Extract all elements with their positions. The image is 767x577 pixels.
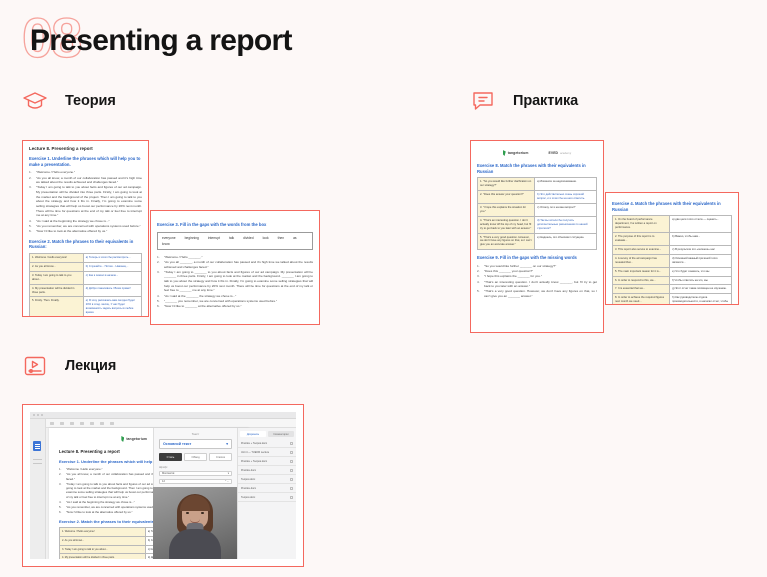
webcam-participant-tile[interactable]	[153, 487, 237, 559]
thumbnail-practice-exercise4-doc[interactable]: Exercise 4. Match the phrases with their…	[605, 192, 739, 305]
table-cell-right: b) Слушайте... Потом... Наконец...	[83, 262, 141, 271]
doc-logo-row: tangetorium EVED academy	[477, 150, 597, 156]
list-item[interactable]: Теория.docx	[238, 493, 296, 502]
table-row: 1. On the board of performance departmen…	[613, 216, 732, 233]
table-row: 4. "That's an interesting question. I do…	[478, 216, 597, 233]
avatar-eye-right	[201, 512, 204, 514]
speech-bubble-icon	[470, 88, 496, 114]
avatar-eye-left	[186, 512, 189, 514]
panel-title: Текст	[159, 432, 232, 436]
list-item: "Welcome / Hello _______."	[157, 255, 313, 260]
doc-content: Exercise 3. Fill in the gaps with the wo…	[151, 211, 319, 324]
doc-exercise9-list: "So you would like further _______ on ou…	[477, 264, 597, 299]
doc-content: Lecture 8. Presenting a report Exercise …	[23, 141, 148, 316]
table-row: 5. "That's a very good question. However…	[478, 233, 597, 250]
file-name: Practice + Теория.docx	[241, 442, 267, 445]
file-name: Теория.docx	[241, 478, 255, 481]
toolbar-icon[interactable]	[50, 422, 54, 425]
table-cell-right: d) Так вы хотели бы получить дополнитель…	[535, 216, 597, 233]
file-list-panel: Документы Комментарии Practice + Теория.…	[237, 428, 296, 559]
toolbar-icon[interactable]	[80, 422, 84, 425]
rail-divider	[33, 459, 42, 460]
file-badge-icon	[290, 442, 293, 445]
tangetorium-logo: tangetorium	[121, 436, 147, 442]
avatar-body	[169, 529, 221, 559]
table-cell-left: 7. It is essential that we...	[613, 285, 670, 294]
list-item: "As you all know, a month of our collabo…	[29, 176, 142, 185]
file-badge-icon	[290, 496, 293, 499]
window-minimize-icon[interactable]	[37, 414, 39, 416]
tab-documents[interactable]: Документы	[240, 431, 266, 437]
rail-divider	[33, 463, 42, 464]
font-label: Шрифт	[159, 466, 232, 469]
file-badge-icon	[290, 451, 293, 454]
list-item: "Now I'd like to _______ at the alternat…	[157, 304, 313, 309]
table-cell-left: 4. My presentation will be divided in th…	[60, 554, 146, 559]
table-row: 6. In order to respond to this, we... f)…	[613, 276, 732, 285]
table-cell-left: 1. Welcome / Hello everyone!	[30, 253, 84, 262]
page-title: Presenting a report	[30, 26, 292, 56]
table-cell-left: 5. "That's a very good question. However…	[478, 233, 535, 250]
stepper-icon[interactable]: ⌃⌄	[225, 480, 229, 483]
table-cell-left: 1. On the board of performance departmen…	[613, 216, 670, 233]
file-badge-icon	[290, 478, 293, 481]
toolbar-icon[interactable]	[110, 422, 114, 425]
list-item[interactable]: Practice.docx	[238, 484, 296, 493]
table-cell-left: 2. As you all know...	[30, 262, 84, 271]
logo-mark-icon	[503, 150, 506, 156]
font-family-select[interactable]: Montserrat ▾	[159, 471, 232, 476]
word-box: everyone beginning interrupt talk divide…	[157, 232, 313, 250]
file-name: Теория.docx	[241, 496, 255, 499]
table-cell-left: 4. "That's an interesting question. I do…	[478, 216, 535, 233]
word-chip: look	[263, 236, 269, 240]
list-item: "As I said at the _______ the strategy w…	[157, 294, 313, 299]
tab-comments[interactable]: Комментарии	[268, 431, 294, 437]
doc-exercise4-heading: Exercise 4. Match the phrases with their…	[612, 201, 732, 212]
table-row: 3. "I hope this explains the situation f…	[478, 203, 597, 216]
word-chip: beginning	[185, 236, 199, 240]
list-item: "Now I'd like to look at the alternative…	[29, 229, 142, 234]
word-chip: everyone	[162, 236, 176, 240]
logo-text: tangetorium	[126, 437, 147, 441]
doc-exercise8-table: 1. "So you would like further clarificat…	[477, 177, 597, 250]
word-chip: interrupt	[208, 236, 220, 240]
table-cell-right: a) Теперь я хотел бы рассмотреть...	[83, 253, 141, 262]
window-close-icon[interactable]	[33, 414, 35, 416]
table-cell-right: h) Как руководителю отдела производитель…	[670, 294, 732, 304]
table-row: 8. In order to achieve the required figu…	[613, 294, 732, 304]
toolbar-icon[interactable]	[100, 422, 104, 425]
word-chip: know	[162, 242, 170, 246]
doc-exercise3-list: "Welcome / Hello _______." "As you all _…	[157, 255, 313, 309]
table-cell-left: 2. The purpose of this report is to eval…	[613, 233, 670, 246]
table-row: 1. Welcome / Hello everyone! a) Теперь я…	[30, 253, 142, 262]
table-row: 3. This report also serves to examine...…	[613, 245, 732, 254]
video-play-icon	[22, 353, 48, 379]
doc-heading: Lecture 8. Presenting a report	[29, 146, 142, 151]
file-name: Practice + Теория.docx	[241, 460, 267, 463]
table-cell-left: 8. In order to achieve the required figu…	[613, 294, 670, 304]
table-cell-left: 2. "Does this answer your question?"	[478, 191, 535, 204]
table-cell-left: 3. "I hope this explains the situation f…	[478, 203, 535, 216]
doc-exercise1-heading: Exercise 1. Underline the phrases which …	[29, 156, 142, 167]
table-cell-left: 1. "So you would like further clarificat…	[478, 178, 535, 191]
file-name: Practice.docx	[241, 469, 256, 472]
word-chip: talk	[229, 236, 234, 240]
app-left-rail	[30, 419, 46, 559]
table-cell-left: 2. As you all know...	[60, 536, 146, 545]
doc-exercise9-heading: Exercise 9. Fill in the gaps with the mi…	[477, 255, 597, 261]
table-row: 7. It is essential that we... g) Этот от…	[613, 285, 732, 294]
table-row: 1. "So you would like further clarificat…	[478, 178, 597, 191]
table-cell-left: 3. Today I am going to talk to you about…	[60, 545, 146, 554]
font-size-value: 12	[162, 480, 165, 483]
section-label-theory: Теория	[65, 93, 116, 109]
table-cell-right: d) Добро пожаловать / Всем привет!	[83, 284, 141, 297]
table-cell-left: 1. Welcome / Hello everyone!	[60, 528, 146, 537]
segment-border[interactable]: Обвод	[184, 453, 207, 461]
list-item: "As I said at the beginning the strategy…	[29, 219, 142, 224]
list-item: "That's a very good question. However, w…	[477, 289, 597, 298]
list-item: "_______ you remember, we are concerned …	[157, 299, 313, 304]
table-cell-right: a) Извините за недопонимание.	[535, 178, 597, 191]
table-cell-right: a) две цели этого отчета — оценить...	[670, 216, 732, 233]
table-cell-left: 5. The main important reason for it is..…	[613, 267, 670, 276]
chevron-down-icon: ▾	[228, 472, 229, 475]
segment-list[interactable]: Список	[209, 453, 232, 461]
file-list-tabs[interactable]: Документы Комментарии	[238, 430, 296, 439]
list-item: "Welcome / Hello everyone."	[29, 170, 142, 175]
doc-exercise2-table: 1. Welcome / Hello everyone! a) Теперь я…	[29, 253, 142, 316]
list-item: "I hope this explains the _______ for yo…	[477, 274, 597, 279]
toolbar-icon[interactable]	[60, 422, 64, 425]
eved-logo: EVED academy	[548, 151, 571, 155]
table-cell-right: c) В результате это «зеленое» нас	[670, 245, 732, 254]
thumbnail-lecture-video[interactable]: tangetorium EVED Lecture 8. Presenting a…	[22, 404, 304, 567]
list-item: "As you remember, we are concerned with …	[29, 224, 142, 229]
list-item[interactable]: Practice + Теория.docx	[238, 457, 296, 466]
document-file-icon[interactable]	[33, 441, 41, 451]
table-row: 5. Firstly. Then. Finally. e) Я хочу рас…	[30, 297, 142, 316]
list-item[interactable]: Practice.docx	[238, 466, 296, 475]
table-cell-right: g) Этот отчет также посвящен ее изучению…	[670, 285, 732, 294]
file-badge-icon	[290, 469, 293, 472]
list-item: "So you would like further _______ on ou…	[477, 264, 597, 269]
table-cell-right: e) Я хочу рассказать вам сегодня будет 2…	[83, 297, 141, 316]
table-cell-left: 6. In order to respond to this, we...	[613, 276, 670, 285]
table-row: 4. A survey of the ad campaign has revea…	[613, 254, 732, 267]
file-name: Practice.docx	[241, 487, 256, 490]
logo-mark-icon	[121, 436, 124, 442]
table-cell-right: b) Это действительно очень хороший вопро…	[535, 191, 597, 204]
paragraph-style-select[interactable]: Основной текст ▾	[159, 439, 232, 449]
paragraph-style-value: Основной текст	[163, 442, 191, 446]
table-cell-left: 4. My presentation will be divided in th…	[30, 284, 84, 297]
font-family-value: Montserrat	[162, 472, 174, 475]
table-cell-right: c) Как я сказал в начале...	[83, 271, 141, 284]
table-row: 5. The main important reason for it is..…	[613, 267, 732, 276]
table-row: 3. Today I am going to talk to you about…	[30, 271, 142, 284]
editor-toolbar[interactable]	[46, 419, 296, 428]
table-cell-right: f) Чтобы ответить на это, мы	[670, 276, 732, 285]
table-cell-left: 5. Firstly. Then. Finally.	[30, 297, 84, 316]
logo-text: tangetorium	[508, 151, 529, 155]
table-cell-right: b) Важно, чтобы нам...	[670, 233, 732, 246]
doc-exercise2-heading: Exercise 2. Match the phrases to their e…	[29, 239, 142, 250]
doc-exercise3-heading: Exercise 3. Fill in the gaps with the wo…	[157, 222, 313, 228]
doc-exercise1-list: "Welcome / Hello everyone." "As you all …	[29, 170, 142, 233]
section-heading-practice: Практика	[470, 88, 578, 114]
thumbnail-theory-lecture-doc[interactable]: Lecture 8. Presenting a report Exercise …	[22, 140, 149, 317]
thumbnail-theory-exercise3-doc[interactable]: Exercise 3. Fill in the gaps with the wo…	[150, 210, 320, 325]
section-heading-lecture: Лекция	[22, 353, 116, 379]
table-cell-right: e) Что будет означать, что мы	[670, 267, 732, 276]
file-name: Unit 4 — TUEOR Lecture	[241, 451, 269, 454]
list-item[interactable]: Practice + Теория.docx	[238, 439, 296, 448]
file-badge-icon	[290, 487, 293, 490]
table-cell-left: 4. A survey of the ad campaign has revea…	[613, 254, 670, 267]
list-item: "As you all _______, a month of our coll…	[157, 260, 313, 269]
tangetorium-logo: tangetorium	[503, 150, 529, 156]
doc-content: Exercise 4. Match the phrases with their…	[606, 193, 738, 304]
window-titlebar	[30, 412, 296, 419]
section-label-lecture: Лекция	[65, 358, 116, 374]
word-chip: divided	[243, 236, 253, 240]
doc-exercise8-heading: Exercise 8. Match the phrases with their…	[477, 163, 597, 174]
toolbar-icon[interactable]	[70, 422, 74, 425]
segment-style[interactable]: Стиль	[159, 453, 182, 461]
table-cell-right: e) Надеюсь, это объясняет ситуацию.	[535, 233, 597, 250]
chevron-down-icon: ▾	[226, 442, 228, 446]
word-chip: as	[293, 236, 296, 240]
list-item[interactable]: Unit 4 — TUEOR Lecture	[238, 448, 296, 457]
logo-subtext: academy	[560, 152, 571, 155]
table-row: 2. The purpose of this report is to eval…	[613, 233, 732, 246]
list-item: "That's an interesting question. I don't…	[477, 280, 597, 289]
list-item: "Today I am going to talk to you about f…	[29, 185, 142, 217]
panel-segmented-control[interactable]: Стиль Обвод Список	[159, 453, 232, 461]
table-row: 4. My presentation will be divided in th…	[30, 284, 142, 297]
section-heading-theory: Теория	[22, 88, 116, 114]
video-screen-share: tangetorium EVED Lecture 8. Presenting a…	[30, 412, 296, 559]
doc-content: tangetorium EVED academy Exercise 8. Mat…	[471, 141, 603, 332]
logo-text: EVED	[548, 151, 558, 155]
graduation-cap-icon	[22, 88, 48, 114]
table-row: 2. "Does this answer your question?" b) …	[478, 191, 597, 204]
list-item: "Today I am going to _______ to you abou…	[157, 270, 313, 293]
list-item: "Does this _______ your question?"	[477, 269, 597, 274]
file-badge-icon	[290, 460, 293, 463]
font-size-input[interactable]: 12 ⌃⌄	[159, 479, 232, 484]
doc-exercise4-table: 1. On the board of performance departmen…	[612, 215, 732, 304]
word-chip: then	[278, 236, 284, 240]
table-cell-right: d) Основной важный причиной этого являет…	[670, 254, 732, 267]
toolbar-icon[interactable]	[90, 422, 94, 425]
thumbnail-practice-exercise8-doc[interactable]: tangetorium EVED academy Exercise 8. Mat…	[470, 140, 604, 333]
table-cell-right: c) Отвечу ли я на ваш вопрос?	[535, 203, 597, 216]
table-cell-left: 3. This report also serves to examine...	[613, 245, 670, 254]
table-row: 2. As you all know... b) Слушайте... Пот…	[30, 262, 142, 271]
section-label-practice: Практика	[513, 93, 578, 109]
list-item[interactable]: Теория.docx	[238, 475, 296, 484]
table-cell-left: 3. Today I am going to talk to you about…	[30, 271, 84, 284]
window-maximize-icon[interactable]	[41, 414, 43, 416]
